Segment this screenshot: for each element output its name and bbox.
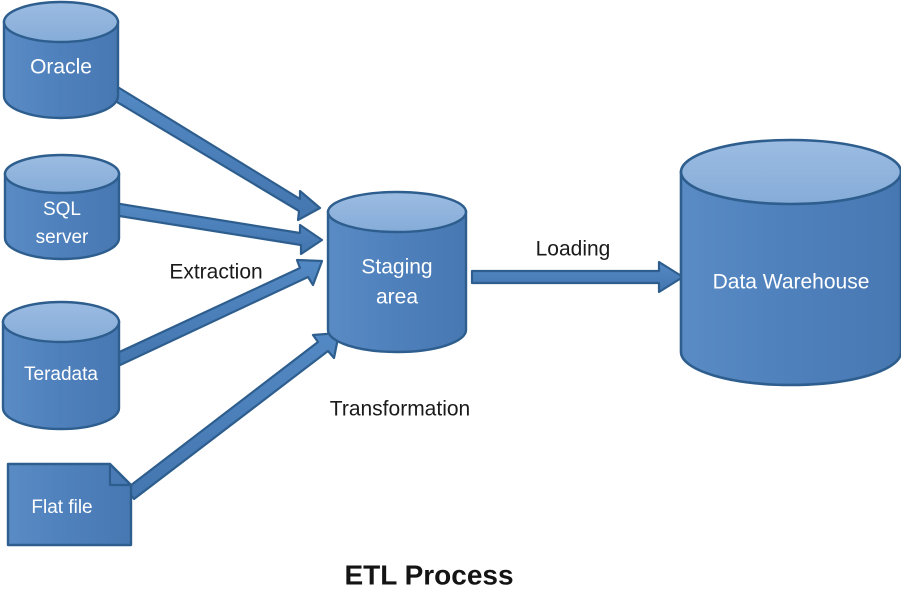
diagram-title: ETL Process	[344, 559, 513, 590]
source-teradata[interactable]: Teradata	[3, 302, 119, 429]
staging-area[interactable]: Staging area	[328, 192, 466, 352]
source-flat-file-label: Flat file	[31, 497, 92, 518]
arrow-flatfile-to-staging	[126, 333, 339, 499]
edge-label-extraction: Extraction	[169, 261, 262, 284]
etl-process-diagram: Oracle SQL server Teradata Flat file Sta…	[0, 0, 901, 598]
edge-label-loading: Loading	[536, 238, 611, 261]
arrow-oracle-to-staging	[112, 86, 320, 220]
source-sql-server-label-line2: server	[36, 227, 89, 248]
arrow-staging-to-warehouse	[472, 262, 683, 292]
etl-diagram-canvas: Oracle SQL server Teradata Flat file Sta…	[0, 0, 901, 598]
source-sql-server-label-line1: SQL	[43, 199, 81, 220]
data-warehouse[interactable]: Data Warehouse	[681, 140, 901, 385]
staging-area-label-line2: area	[376, 286, 418, 309]
arrow-sqlserver-to-staging	[113, 203, 322, 254]
source-oracle[interactable]: Oracle	[4, 2, 118, 118]
source-flat-file[interactable]: Flat file	[8, 464, 131, 545]
data-warehouse-label: Data Warehouse	[713, 271, 870, 294]
staging-area-label-line1: Staging	[361, 256, 432, 279]
source-sql-server[interactable]: SQL server	[5, 155, 119, 259]
source-teradata-label: Teradata	[24, 364, 98, 385]
source-oracle-label: Oracle	[30, 56, 92, 79]
edge-label-transformation: Transformation	[330, 398, 470, 421]
